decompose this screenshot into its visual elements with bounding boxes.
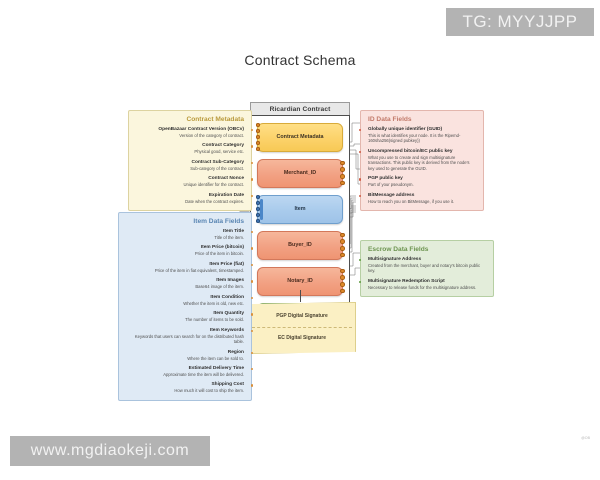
field-desc: Price of the item in fiat equivalent, ti… [126, 268, 244, 273]
field-desc: Title of the item. [126, 235, 244, 240]
field-desc: Physical good, service etc. [136, 149, 244, 154]
field-desc: This is what identifies your node. It is… [368, 133, 476, 144]
connector-dot [256, 123, 261, 127]
digital-signature-banner: PGP Digital Signature EC Digital Signatu… [248, 302, 356, 354]
connector-dot [340, 181, 345, 186]
field-anchor-dot [359, 259, 361, 261]
field-row: Estimated Delivery Time Approximate time… [126, 366, 244, 377]
corner-note: @OB [581, 436, 590, 440]
field-row: Item Title Title of the item. [126, 229, 244, 240]
block-contract-metadata[interactable]: Contract Metadata [257, 123, 343, 152]
field-anchor-dot [359, 151, 361, 153]
field-anchor-dot [251, 280, 253, 282]
field-anchor-dot [359, 281, 361, 283]
connector-dot [256, 219, 261, 223]
ec-signature-label: EC Digital Signature [248, 335, 356, 341]
field-anchor-dot [359, 129, 361, 131]
signature-divider [252, 327, 352, 328]
field-anchor-dot [251, 247, 253, 249]
field-row: Item Condition Whether the item is old, … [126, 295, 244, 306]
field-desc: How much it will cost to ship the item. [126, 388, 244, 393]
connector-dot [256, 147, 261, 151]
watermark-telegram: TG: MYYJJPP [446, 8, 594, 36]
field-desc: Unique identifier for the contract. [136, 182, 244, 187]
panel-escrow-data-fields: Escrow Data Fields Multisignature Addres… [360, 240, 494, 297]
block-item[interactable]: Item [257, 195, 343, 224]
connector-dot [340, 239, 345, 244]
field-row: Uncompressed bitcoin/EC public key What … [368, 149, 476, 171]
panel-title: Contract Metadata [136, 116, 244, 123]
signature-stem [300, 290, 301, 302]
field-row: Contract Nonce Unique identifier for the… [136, 176, 244, 187]
field-row: Multisignature Redemption Script Necessa… [368, 279, 486, 290]
connector-dot [256, 129, 261, 133]
field-desc: Base64 image of the item. [126, 284, 244, 289]
connector-dots-left [256, 196, 261, 223]
field-row: Globally unique identifier (GUID) This i… [368, 127, 476, 144]
connector-dot [256, 195, 261, 199]
connector-dot [256, 213, 261, 217]
page-title: Contract Schema [0, 52, 600, 68]
field-desc: Keywords that users can search for on th… [126, 334, 244, 345]
connector-dot [340, 269, 345, 274]
field-anchor-dot [251, 178, 253, 180]
watermark-website: www.mgdiaokeji.com [10, 436, 210, 466]
connector-dot [256, 135, 261, 139]
connector-dot [340, 161, 345, 166]
connector-dot [340, 174, 345, 179]
field-desc: Price of the item in bitcoin. [126, 251, 244, 256]
field-desc: What you use to create and sign multisig… [368, 155, 476, 171]
connector-dot [256, 141, 261, 145]
field-desc: Sub-category of the contract. [136, 166, 244, 171]
connector-dots-right [340, 160, 345, 187]
connector-dot [256, 207, 261, 211]
connector-dot [340, 253, 345, 258]
connector-dots-right [340, 232, 345, 259]
field-anchor-dot [359, 178, 361, 180]
field-anchor-dot [251, 368, 253, 370]
panel-contract-metadata: Contract Metadata OpenBazaar Contract Ve… [128, 110, 252, 211]
block-buyer-id[interactable]: Buyer_ID [257, 231, 343, 260]
panel-title: Escrow Data Fields [368, 246, 486, 253]
field-row: Multisignature Address Created from the … [368, 257, 486, 274]
field-row: Item Images Base64 image of the item. [126, 278, 244, 289]
field-row: Item Keywords Keywords that users can se… [126, 328, 244, 345]
field-anchor-dot [251, 313, 253, 315]
field-row: OpenBazaar Contract Version (OBCv) Versi… [136, 127, 244, 138]
field-row: Item Price (bitcoin) Price of the item i… [126, 245, 244, 256]
block-merchant-id[interactable]: Merchant_ID [257, 159, 343, 188]
field-row: BitMessage address How to reach you on B… [368, 193, 476, 204]
panel-item-data-fields: Item Data Fields Item Title Title of the… [118, 212, 252, 401]
connector-dot [256, 201, 261, 205]
panel-title: ID Data Fields [368, 116, 476, 123]
field-desc: Created from the merchant, buyer and not… [368, 263, 486, 274]
field-desc: Version of the category of contract. [136, 133, 244, 138]
field-row: PGP public key Part of your pseudonym. [368, 176, 476, 187]
field-desc: The number of items to be sold. [126, 317, 244, 322]
field-desc: Date when the contract expires. [136, 199, 244, 204]
field-desc: How to reach you on BitMessage, if you u… [368, 199, 476, 204]
field-row: Expiration Date Date when the contract e… [136, 193, 244, 204]
connector-dot [340, 282, 345, 287]
field-desc: Necessary to release funds for the multi… [368, 285, 486, 290]
ricardian-contract-header: Ricardian Contract [250, 102, 350, 115]
block-label: Notary_ID [287, 278, 312, 284]
panel-title: Item Data Fields [126, 218, 244, 225]
connector-dot [340, 246, 345, 251]
field-row: Contract Sub-Category Sub-category of th… [136, 160, 244, 171]
field-anchor-dot [251, 330, 253, 332]
connector-dot [340, 275, 345, 280]
field-desc: Part of your pseudonym. [368, 182, 476, 187]
field-desc: Approximate time the item will be delive… [126, 372, 244, 377]
field-row: Region Where the item can be sold to. [126, 350, 244, 361]
connector-dot [340, 289, 345, 294]
block-label: Contract Metadata [276, 134, 323, 140]
block-label: Item [294, 206, 305, 212]
panel-id-data-fields: ID Data Fields Globally unique identifie… [360, 110, 484, 211]
field-row: Item Price (fiat) Price of the item in f… [126, 262, 244, 273]
field-row: Contract Category Physical good, service… [136, 143, 244, 154]
signature-scroll [248, 302, 356, 354]
diagram-canvas: Contract Schema Ricardian Contract Contr… [0, 0, 600, 480]
field-anchor-dot [251, 384, 253, 386]
connector-dot [340, 167, 345, 172]
block-label: Buyer_ID [288, 242, 312, 248]
field-anchor-dot [251, 352, 253, 354]
pgp-signature-label: PGP Digital Signature [248, 313, 356, 319]
connector-dots-right [340, 268, 345, 295]
field-anchor-dot [359, 195, 361, 197]
connector-dots-left [256, 124, 261, 151]
field-desc: Where the item can be sold to. [126, 356, 244, 361]
field-anchor-dot [251, 145, 253, 147]
field-desc: Whether the item is old, new etc. [126, 301, 244, 306]
field-row: Item Quantity The number of items to be … [126, 311, 244, 322]
connector-dot [340, 233, 345, 238]
block-label: Merchant_ID [284, 170, 316, 176]
field-row: Shipping Cost How much it will cost to s… [126, 382, 244, 393]
